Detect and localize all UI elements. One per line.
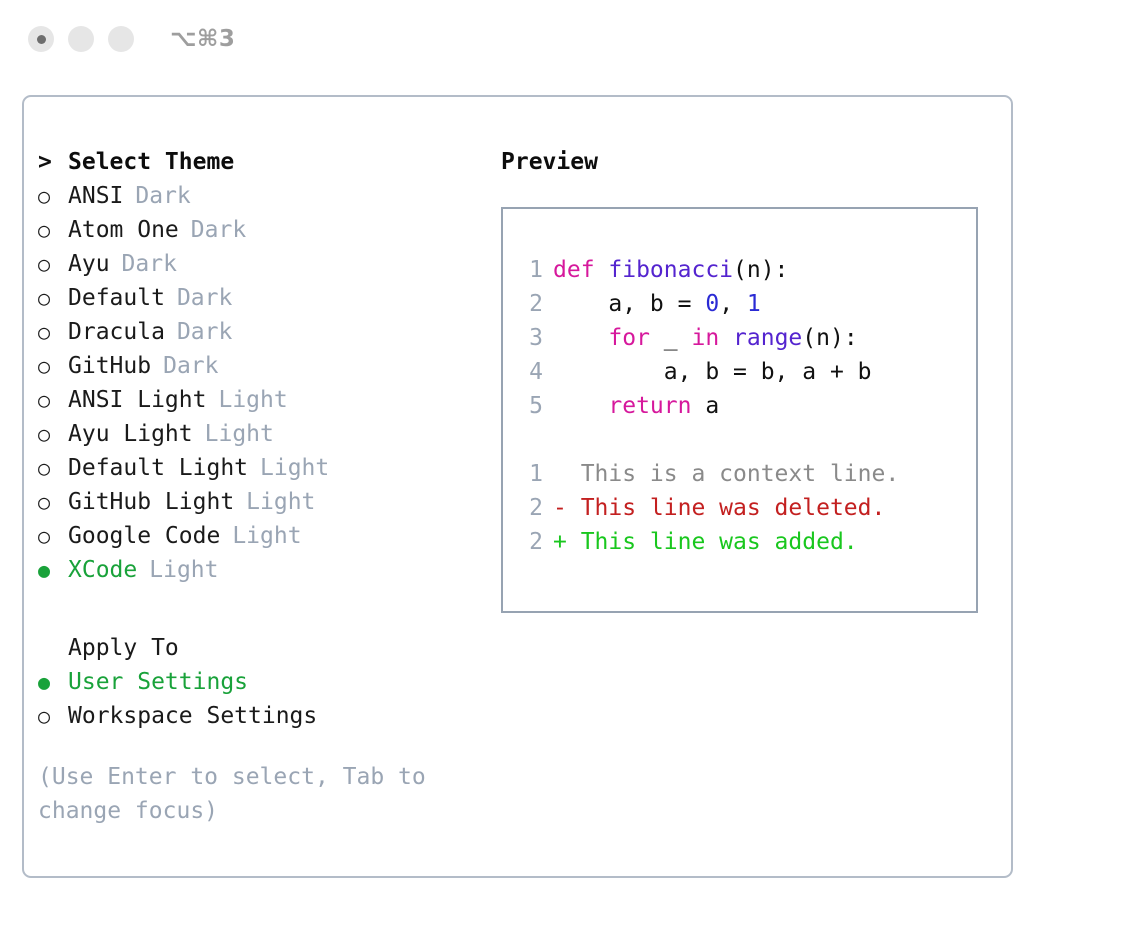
theme-list-item[interactable]: ○GitHub LightLight [38,485,478,519]
theme-list-item[interactable]: ○Ayu LightLight [38,417,478,451]
diff-text: - This line was deleted. [553,495,885,521]
code-line: 2 a, b = 0, 1 [521,287,976,321]
theme-variant-tag: Light [260,451,329,485]
radio-unselected-icon[interactable]: ○ [38,519,68,553]
theme-picker-column: > Select Theme ○ANSIDark○Atom OneDark○Ay… [38,145,478,733]
theme-variant-tag: Dark [177,315,232,349]
window-controls [28,26,134,52]
diff-line: 2+ This line was added. [521,525,976,559]
keyboard-hint-line-2: change focus) [38,794,438,828]
radio-unselected-icon[interactable]: ○ [38,247,68,281]
preview-title: Preview [501,145,991,179]
keyboard-shortcut-label: ⌥⌘3 [170,26,235,52]
select-theme-title: Select Theme [68,145,234,179]
window-dot-second-icon[interactable] [68,26,94,52]
code-line: 3 for _ in range(n): [521,321,976,355]
diff-text: This is a context line. [553,461,899,487]
code-token: fibonacci [608,257,733,283]
code-token: , [719,291,747,317]
theme-variant-tag: Light [246,485,315,519]
code-token: in [691,325,719,351]
theme-list-item[interactable]: ○Google CodeLight [38,519,478,553]
radio-unselected-icon[interactable]: ○ [38,451,68,485]
theme-list-item[interactable]: ○ANSI LightLight [38,383,478,417]
theme-name-label: Dracula [68,315,165,349]
theme-list-item[interactable]: ●XCodeLight [38,553,478,587]
theme-variant-tag: Dark [122,247,177,281]
code-token [719,325,733,351]
theme-name-label: GitHub [68,349,151,383]
keyboard-hint: (Use Enter to select, Tab to change focu… [38,760,438,828]
line-number: 2 [521,287,543,321]
theme-list-item[interactable]: ○Atom OneDark [38,213,478,247]
code-token: return [608,393,691,419]
theme-list-item[interactable]: ○ANSIDark [38,179,478,213]
radio-unselected-icon[interactable]: ○ [38,485,68,519]
apply-to-list: ●User Settings○Workspace Settings [38,665,478,733]
radio-selected-icon[interactable]: ● [38,665,68,699]
diff-line: 2- This line was deleted. [521,491,976,525]
apply-to-label: User Settings [68,665,248,699]
preview-box: 1def fibonacci(n):2 a, b = 0, 13 for _ i… [501,207,978,613]
code-token: 1 [747,291,761,317]
theme-list-item[interactable]: ○DefaultDark [38,281,478,315]
select-theme-header: > Select Theme [38,145,478,179]
code-token: def [553,257,608,283]
theme-name-label: Google Code [68,519,220,553]
theme-name-label: Ayu [68,247,110,281]
apply-to-header: ● Apply To [38,631,478,665]
theme-name-label: ANSI [68,179,123,213]
window-dot-active-icon[interactable] [28,26,54,52]
theme-variant-tag: Dark [191,213,246,247]
caret-icon: > [38,145,68,179]
theme-list: ○ANSIDark○Atom OneDark○AyuDark○DefaultDa… [38,179,478,587]
preview-column: Preview 1def fibonacci(n):2 a, b = 0, 13… [501,145,991,613]
code-token: a [691,393,719,419]
theme-list-item[interactable]: ○Default LightLight [38,451,478,485]
line-number: 5 [521,389,543,423]
theme-list-item[interactable]: ○AyuDark [38,247,478,281]
diff-spacer [521,423,976,457]
theme-variant-tag: Light [232,519,301,553]
radio-unselected-icon[interactable]: ○ [38,179,68,213]
line-number: 4 [521,355,543,389]
diff-line: 1 This is a context line. [521,457,976,491]
radio-selected-icon[interactable]: ● [38,553,68,587]
apply-to-item[interactable]: ●User Settings [38,665,478,699]
line-number: 2 [521,525,543,559]
code-token: a, b = b, a + b [553,359,872,385]
code-token: a, b = [553,291,705,317]
code-line: 5 return a [521,389,976,423]
code-token: (n): [802,325,857,351]
diff-text: + This line was added. [553,529,858,555]
theme-variant-tag: Light [205,417,274,451]
theme-list-item[interactable]: ○DraculaDark [38,315,478,349]
radio-unselected-icon[interactable]: ○ [38,417,68,451]
theme-name-label: Default [68,281,165,315]
theme-name-label: Atom One [68,213,179,247]
radio-unselected-icon[interactable]: ○ [38,281,68,315]
radio-unselected-icon[interactable]: ○ [38,213,68,247]
theme-name-label: Default Light [68,451,248,485]
code-line: 4 a, b = b, a + b [521,355,976,389]
line-number: 2 [521,491,543,525]
apply-to-title: Apply To [68,631,179,665]
window-dot-third-icon[interactable] [108,26,134,52]
theme-name-label: GitHub Light [68,485,234,519]
theme-variant-tag: Dark [135,179,190,213]
code-token [553,325,608,351]
radio-unselected-icon[interactable]: ○ [38,699,68,733]
code-token: (n): [733,257,788,283]
window-dot-inner [37,35,46,44]
code-token: range [733,325,802,351]
app-window: ⌥⌘3 > Select Theme ○ANSIDark○Atom OneDar… [0,0,1140,934]
theme-name-label: Ayu Light [68,417,193,451]
code-sample: 1def fibonacci(n):2 a, b = 0, 13 for _ i… [521,253,976,423]
line-number: 1 [521,457,543,491]
line-number: 3 [521,321,543,355]
radio-unselected-icon[interactable]: ○ [38,315,68,349]
code-token: 0 [705,291,719,317]
theme-variant-tag: Light [218,383,287,417]
theme-name-label: XCode [68,553,137,587]
code-token: for [608,325,650,351]
theme-variant-tag: Dark [163,349,218,383]
apply-to-item[interactable]: ○Workspace Settings [38,699,478,733]
code-line: 1def fibonacci(n): [521,253,976,287]
keyboard-hint-line-1: (Use Enter to select, Tab to [38,760,438,794]
content-panel: > Select Theme ○ANSIDark○Atom OneDark○Ay… [22,95,1013,878]
theme-name-label: ANSI Light [68,383,206,417]
theme-variant-tag: Light [149,553,218,587]
code-token: _ [650,325,692,351]
line-number: 1 [521,253,543,287]
section-spacer [38,587,478,631]
title-bar: ⌥⌘3 [0,0,1140,78]
theme-list-item[interactable]: ○GitHubDark [38,349,478,383]
code-token [553,393,608,419]
apply-to-label: Workspace Settings [68,699,317,733]
radio-unselected-icon[interactable]: ○ [38,383,68,417]
theme-variant-tag: Dark [177,281,232,315]
apply-to-indent: ● [38,631,68,665]
radio-unselected-icon[interactable]: ○ [38,349,68,383]
diff-sample: 1 This is a context line.2- This line wa… [521,457,976,559]
